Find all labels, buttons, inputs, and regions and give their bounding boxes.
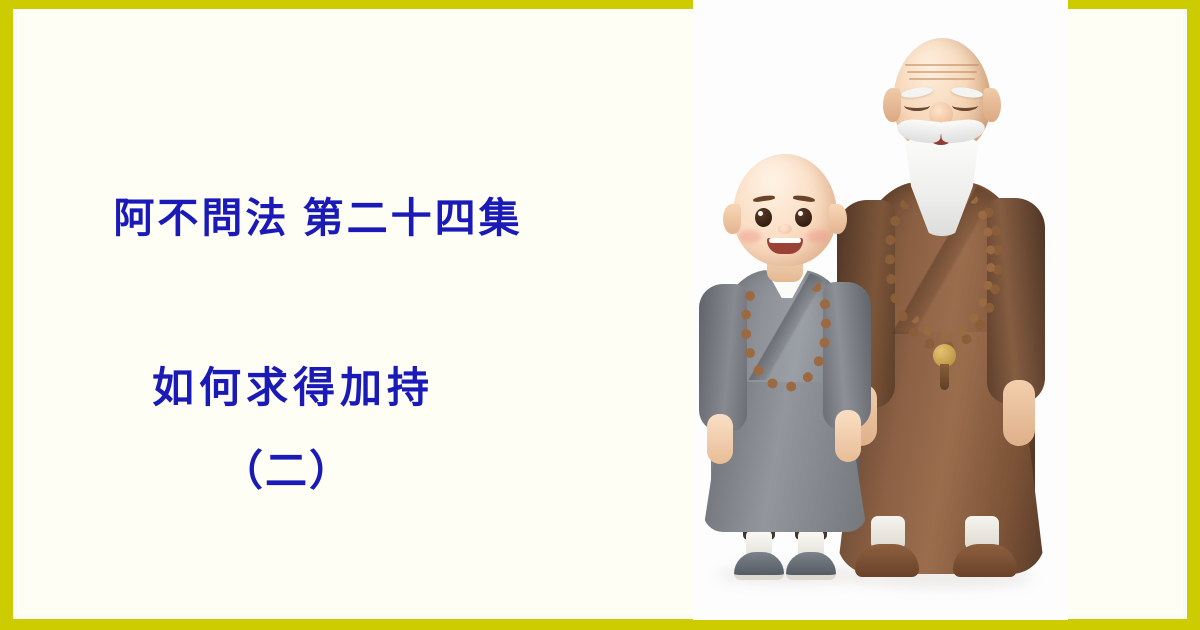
boy-monk-left-cheek-blush [739, 230, 761, 243]
elder-monk-left-moustache [896, 118, 942, 144]
boy-monk-left-hand [707, 414, 733, 464]
boy-monk-left-ear [723, 204, 741, 234]
slide-canvas: 阿不問法 第二十四集 如何求得加持 （二） [0, 0, 1200, 630]
elder-monk-figure [841, 32, 1041, 577]
elder-monk-forehead-wrinkle [905, 64, 979, 66]
elder-monk-bead-tassel [940, 364, 949, 390]
elder-monk-left-eye [904, 100, 930, 111]
elder-monk-right-ear [983, 88, 1001, 122]
boy-monk-right-ear [829, 204, 847, 234]
boy-monk-left-shoe [734, 552, 784, 580]
elder-monk-forehead-wrinkle [909, 78, 975, 80]
boy-monk-right-eye-highlight [798, 211, 803, 216]
boy-monk-figure [705, 152, 865, 580]
elder-monk-right-hand [1003, 380, 1035, 446]
page-title: 阿不問法 第二十四集 [18, 184, 618, 244]
boy-monk-right-hand [835, 410, 861, 462]
elder-monk-right-eye [952, 100, 978, 111]
boy-monk-left-eye [755, 208, 772, 227]
boy-monk-right-shoe [786, 552, 836, 580]
elder-monk-right-shoe [953, 544, 1017, 577]
boy-monk-nose [778, 224, 792, 234]
boy-monk-teeth [769, 238, 801, 243]
page-part-number: （二） [0, 437, 587, 498]
elder-monk-right-moustache [940, 118, 986, 144]
boy-monk-left-eye-highlight [758, 211, 763, 216]
two-monks-illustration [693, 0, 1068, 620]
subtitle-group: 如何求得加持 （二） [25, 354, 625, 498]
boy-monk-right-cheek-blush [807, 230, 829, 243]
page-subtitle: 如何求得加持 [0, 354, 593, 415]
title-text-block: 阿不問法 第二十四集 如何求得加持 （二） [25, 184, 625, 498]
elder-monk-left-ear [883, 88, 901, 122]
elder-monk-forehead-wrinkle [907, 71, 977, 73]
boy-monk-left-sleeve [699, 284, 747, 432]
boy-monk-right-eye [795, 208, 812, 227]
